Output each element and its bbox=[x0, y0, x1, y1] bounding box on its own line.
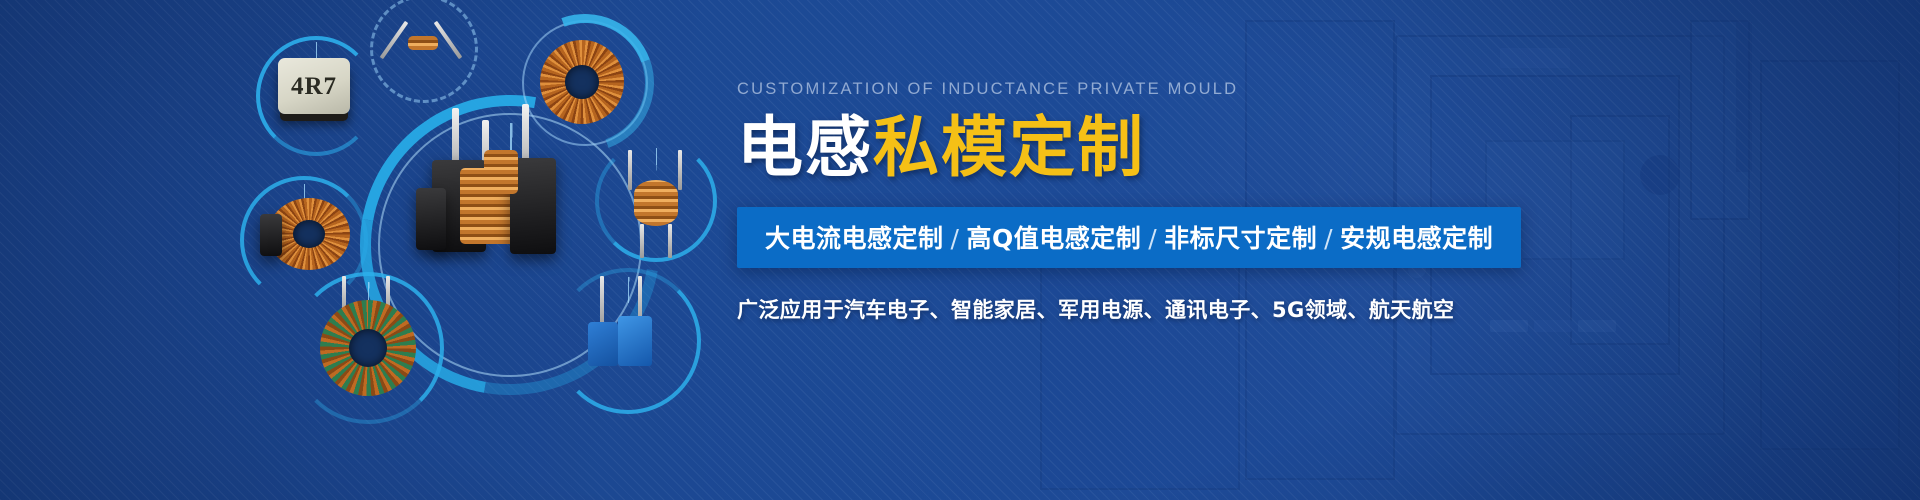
page-title: 电感私模定制 bbox=[737, 115, 1737, 181]
service-item-1: 高Q值电感定制 bbox=[966, 224, 1141, 253]
product-pin bbox=[522, 104, 529, 164]
headline-white-text: 电感 bbox=[737, 109, 873, 186]
product-lead-wire bbox=[640, 224, 644, 258]
product-blue-inductor bbox=[618, 316, 652, 366]
service-separator: / bbox=[1317, 224, 1340, 253]
service-separator: / bbox=[1141, 224, 1164, 253]
product-toroidal-inductor-green bbox=[320, 300, 416, 396]
product-drum-inductor bbox=[634, 180, 678, 226]
product-bobbin bbox=[260, 214, 282, 256]
product-lead-wire bbox=[628, 150, 632, 190]
service-item-0: 大电流电感定制 bbox=[765, 224, 944, 253]
service-list-bar[interactable]: 大电流电感定制/高Q值电感定制/非标尺寸定制/安规电感定制 bbox=[737, 207, 1521, 268]
product-lead-wire bbox=[668, 224, 672, 258]
headline-gold-text: 私模定制 bbox=[873, 109, 1145, 186]
smd-part-label: 4R7 bbox=[291, 74, 337, 99]
promo-banner: 4R7 bbox=[0, 0, 1920, 500]
service-item-3: 安规电感定制 bbox=[1340, 224, 1493, 253]
banner-text-block: CUSTOMIZATION OF INDUCTANCE PRIVATE MOUL… bbox=[737, 80, 1737, 324]
product-pin bbox=[452, 108, 459, 162]
product-bobbin bbox=[416, 188, 446, 250]
eyebrow-text: CUSTOMIZATION OF INDUCTANCE PRIVATE MOUL… bbox=[737, 80, 1737, 99]
service-item-2: 非标尺寸定制 bbox=[1164, 224, 1317, 253]
service-list-text: 大电流电感定制/高Q值电感定制/非标尺寸定制/安规电感定制 bbox=[765, 224, 1493, 253]
product-lead-wire bbox=[678, 150, 682, 190]
product-copper-coil bbox=[484, 150, 518, 194]
product-blue-inductor bbox=[588, 322, 618, 366]
application-description: 广泛应用于汽车电子、智能家居、军用电源、通讯电子、5G领域、航天航空 bbox=[737, 294, 1737, 324]
product-lead-wire bbox=[600, 276, 604, 328]
product-toroidal-inductor bbox=[540, 40, 624, 124]
service-separator: / bbox=[944, 224, 967, 253]
product-smd-inductor: 4R7 bbox=[278, 58, 350, 114]
product-axial-inductor bbox=[408, 36, 438, 50]
product-collage: 4R7 bbox=[210, 0, 730, 500]
